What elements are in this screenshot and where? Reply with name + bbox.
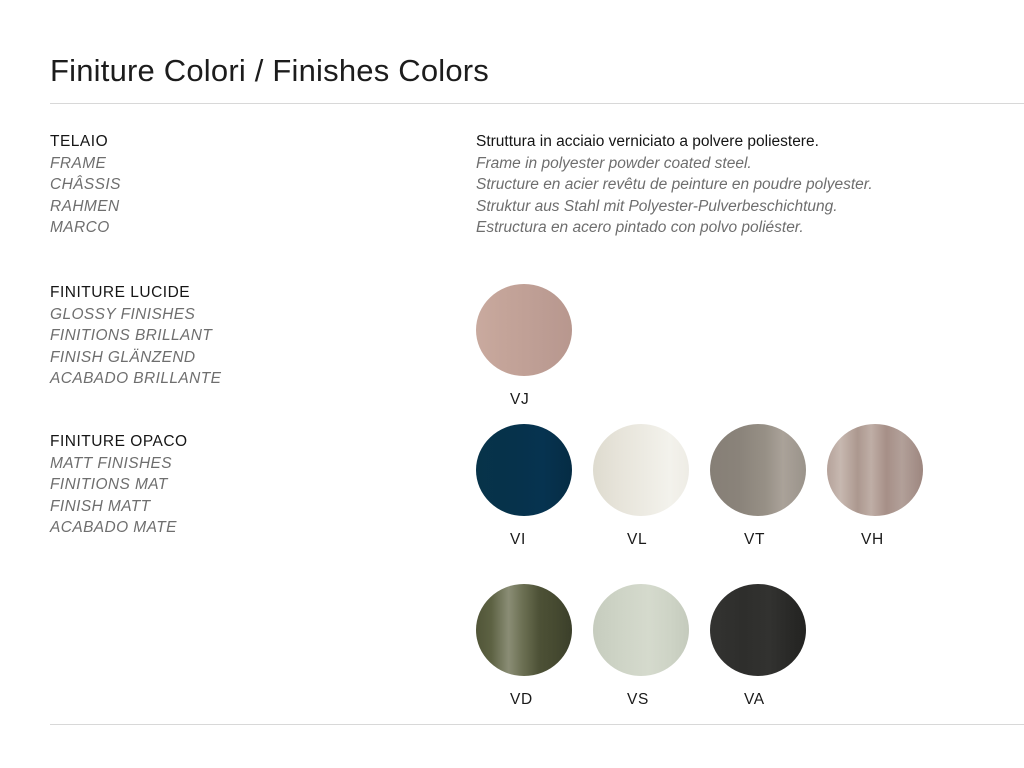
glossy-label-fr: FINITIONS BRILLANT	[50, 325, 450, 347]
frame-description-de: Struktur aus Stahl mit Polyester-Pulverb…	[476, 196, 1016, 218]
glossy-label-en: GLOSSY FINISHES	[50, 304, 450, 326]
frame-label-block: TELAIO FRAME CHÂSSIS RAHMEN MARCO	[50, 131, 450, 239]
swatch-vi[interactable]: VI	[476, 424, 593, 548]
matt-label-fr: FINITIONS MAT	[50, 474, 450, 496]
swatch-vt-label: VT	[710, 531, 827, 548]
glossy-swatch-row: VJ	[476, 284, 593, 408]
divider-bottom	[50, 724, 1024, 725]
matt-label-block: FINITURE OPACO MATT FINISHES FINITIONS M…	[50, 431, 450, 539]
frame-label-de: RAHMEN	[50, 196, 450, 218]
frame-label-en: FRAME	[50, 153, 450, 175]
swatch-vh-circle[interactable]	[827, 424, 923, 516]
frame-description-en: Frame in polyester powder coated steel.	[476, 153, 1016, 175]
swatch-va-label: VA	[710, 691, 827, 708]
matt-swatch-row-2: VD VS VA	[476, 584, 827, 708]
frame-label-it: TELAIO	[50, 131, 450, 153]
page-title: Finiture Colori / Finishes Colors	[50, 53, 489, 89]
swatch-va-circle[interactable]	[710, 584, 806, 676]
swatch-vi-label: VI	[476, 531, 593, 548]
swatch-vj-label: VJ	[476, 391, 593, 408]
matt-label-en: MATT FINISHES	[50, 453, 450, 475]
frame-description-block: Struttura in acciaio verniciato a polver…	[476, 131, 1016, 239]
finishes-colors-page: Finiture Colori / Finishes Colors TELAIO…	[0, 0, 1024, 768]
matt-swatch-row-1: VI VL VT VH	[476, 424, 944, 548]
divider-top	[50, 103, 1024, 104]
swatch-vt[interactable]: VT	[710, 424, 827, 548]
matt-label-de: FINISH MATT	[50, 496, 450, 518]
frame-description-es: Estructura en acero pintado con polvo po…	[476, 217, 1016, 239]
frame-description-it: Struttura in acciaio verniciato a polver…	[476, 131, 1016, 153]
swatch-va[interactable]: VA	[710, 584, 827, 708]
frame-description-fr: Structure en acier revêtu de peinture en…	[476, 174, 1016, 196]
swatch-vi-circle[interactable]	[476, 424, 572, 516]
swatch-vj[interactable]: VJ	[476, 284, 593, 408]
glossy-label-es: ACABADO BRILLANTE	[50, 368, 450, 390]
swatch-vs-circle[interactable]	[593, 584, 689, 676]
swatch-vh[interactable]: VH	[827, 424, 944, 548]
swatch-vl[interactable]: VL	[593, 424, 710, 548]
swatch-vs[interactable]: VS	[593, 584, 710, 708]
frame-label-fr: CHÂSSIS	[50, 174, 450, 196]
swatch-vd[interactable]: VD	[476, 584, 593, 708]
swatch-vs-label: VS	[593, 691, 710, 708]
swatch-vl-circle[interactable]	[593, 424, 689, 516]
swatch-vl-label: VL	[593, 531, 710, 548]
glossy-label-de: FINISH GLÄNZEND	[50, 347, 450, 369]
frame-label-es: MARCO	[50, 217, 450, 239]
swatch-vd-label: VD	[476, 691, 593, 708]
matt-label-it: FINITURE OPACO	[50, 431, 450, 453]
swatch-vd-circle[interactable]	[476, 584, 572, 676]
glossy-label-it: FINITURE LUCIDE	[50, 282, 450, 304]
matt-label-es: ACABADO MATE	[50, 517, 450, 539]
glossy-label-block: FINITURE LUCIDE GLOSSY FINISHES FINITION…	[50, 282, 450, 390]
swatch-vj-circle[interactable]	[476, 284, 572, 376]
swatch-vt-circle[interactable]	[710, 424, 806, 516]
swatch-vh-label: VH	[827, 531, 944, 548]
